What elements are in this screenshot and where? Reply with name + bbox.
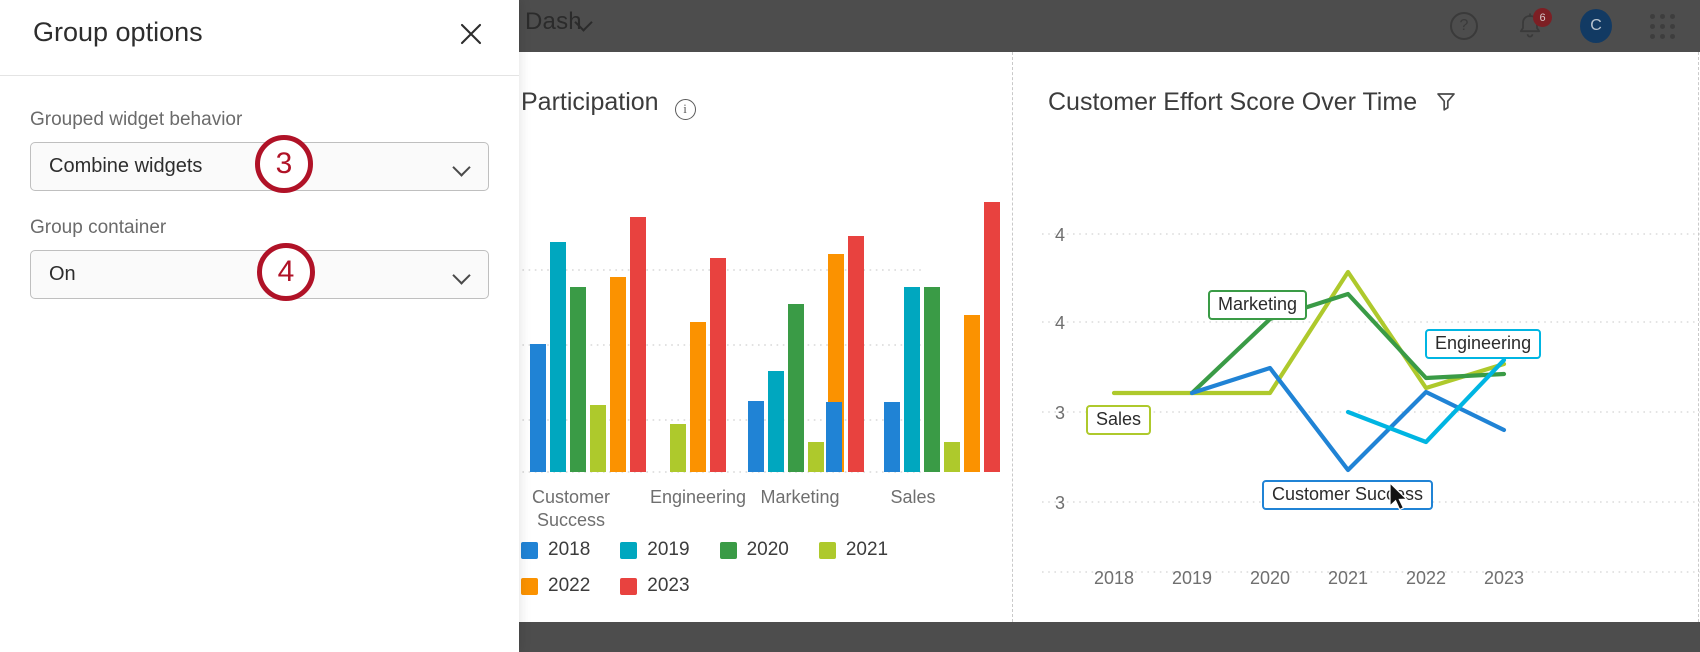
- apps-button[interactable]: [1646, 10, 1678, 42]
- close-button[interactable]: [453, 16, 489, 52]
- grouped-widget-behavior-label: Grouped widget behavior: [30, 109, 489, 131]
- page-title: Group options: [33, 17, 203, 48]
- series-callout-engineering[interactable]: Engineering: [1425, 329, 1541, 359]
- legend-swatch: [620, 542, 637, 559]
- bar-group-marketing[interactable]: [748, 236, 864, 472]
- bar-group-sales-set[interactable]: [884, 202, 1000, 472]
- line-series-customer-success[interactable]: [1192, 368, 1504, 470]
- x-label-customer-success: Customer: [532, 487, 610, 507]
- x-label-engineering: Engineering: [650, 487, 746, 507]
- widget-divider: [1012, 52, 1013, 622]
- x-tick-2019: 2019: [1172, 568, 1212, 588]
- step-marker-3: 3: [255, 135, 313, 193]
- group-options-panel: Group options Grouped widget behavior Co…: [0, 0, 519, 652]
- ces-line-chart: 4 4 3 3 2018 2019 2020 2021 2022 2023: [1024, 112, 1700, 622]
- x-label-customer-success-2: Success: [537, 510, 605, 530]
- x-tick-2022: 2022: [1406, 568, 1446, 588]
- participation-bar-chart: 60 40 20: [480, 122, 1000, 542]
- legend-swatch: [819, 542, 836, 559]
- topbar-actions: ? 6 C: [1448, 0, 1678, 52]
- notifications-button[interactable]: 6: [1514, 10, 1546, 42]
- legend-swatch: [521, 578, 538, 595]
- legend-item-2023[interactable]: 2023: [620, 575, 689, 597]
- step-marker-4: 4: [257, 243, 315, 301]
- participation-title-text: Participation: [521, 88, 659, 116]
- help-glyph: ?: [1460, 17, 1469, 35]
- avatar-initial: C: [1590, 17, 1602, 35]
- x-tick-2021: 2021: [1328, 568, 1368, 588]
- user-avatar-button[interactable]: C: [1580, 10, 1612, 42]
- series-callout-marketing[interactable]: Marketing: [1208, 290, 1307, 320]
- close-icon: [458, 21, 484, 47]
- x-tick-2020: 2020: [1250, 568, 1290, 588]
- participation-widget-title: Participation i: [521, 88, 696, 120]
- chevron-down-icon: [452, 158, 470, 176]
- screen: Dash ? 6 C: [0, 0, 1700, 652]
- chevron-down-icon: [452, 266, 470, 284]
- series-callout-sales[interactable]: Sales: [1086, 405, 1151, 435]
- group-container-value: On: [49, 263, 76, 286]
- legend-item-2019[interactable]: 2019: [620, 539, 689, 561]
- help-button[interactable]: ?: [1448, 10, 1480, 42]
- participation-legend: 2018 2019 2020 2021 2022: [521, 539, 941, 611]
- y-tick-0: 4: [1055, 225, 1065, 245]
- x-tick-2018: 2018: [1094, 568, 1134, 588]
- legend-swatch: [620, 578, 637, 595]
- group-container-label: Group container: [30, 217, 489, 239]
- notification-badge: 6: [1533, 8, 1552, 27]
- legend-swatch: [521, 542, 538, 559]
- help-circle-icon: ?: [1450, 12, 1478, 40]
- apps-grid-icon: [1650, 14, 1675, 39]
- x-label-marketing: Marketing: [760, 487, 839, 507]
- gridlines: [1042, 234, 1700, 572]
- legend-swatch: [720, 542, 737, 559]
- y-tick-1: 4: [1055, 313, 1065, 333]
- grouped-widget-behavior-value: Combine widgets: [49, 155, 202, 178]
- legend-item-2020[interactable]: 2020: [720, 539, 789, 561]
- legend-item-2018[interactable]: 2018: [521, 539, 590, 561]
- panel-header: Group options: [0, 0, 519, 76]
- legend-item-2021[interactable]: 2021: [819, 539, 888, 561]
- avatar: C: [1580, 9, 1612, 43]
- mouse-cursor: [1388, 482, 1410, 514]
- x-label-sales: Sales: [890, 487, 935, 507]
- sales-bars[interactable]: [826, 402, 842, 472]
- info-circle-icon[interactable]: i: [675, 99, 696, 120]
- y-tick-3: 3: [1055, 493, 1065, 513]
- bar-group-engineering[interactable]: [670, 258, 726, 472]
- y-tick-2: 3: [1055, 403, 1065, 423]
- x-tick-2023: 2023: [1484, 568, 1524, 588]
- legend-item-2022[interactable]: 2022: [521, 575, 590, 597]
